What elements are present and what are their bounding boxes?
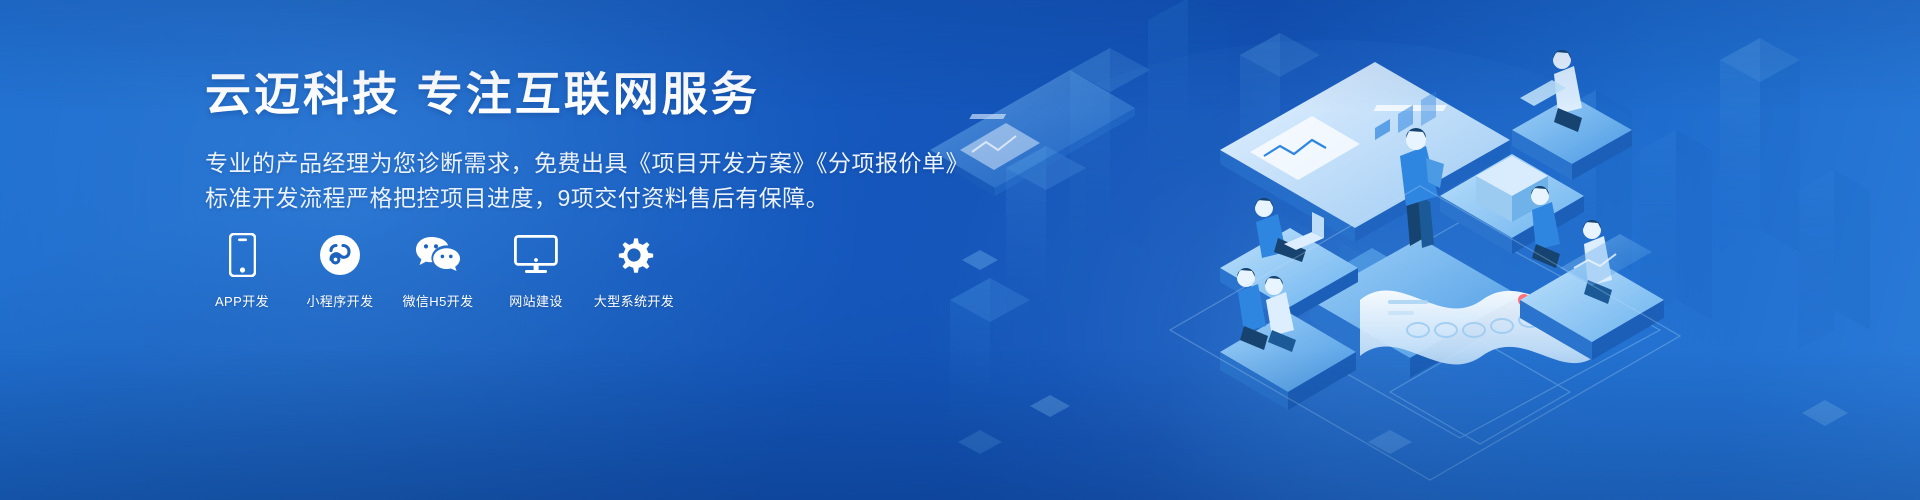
subtitle-line-2: 标准开发流程严格把控项目进度，9项交付资料售后有保障。 [205,181,965,217]
service-item-mini-program[interactable]: 小程序开发 [303,232,377,310]
background-glow-right [880,40,1780,500]
banner-subtitle: 专业的产品经理为您诊断需求，免费出具《项目开发方案》《分项报价单》 标准开发流程… [205,146,965,217]
gear-icon [613,232,655,278]
wechat-icon [415,232,461,278]
service-label-website: 网站建设 [509,291,563,310]
service-label-wechat-h5: 微信H5开发 [402,291,473,310]
banner-text-block: 云迈科技 专注互联网服务 专业的产品经理为您诊断需求，免费出具《项目开发方案》《… [205,66,965,217]
service-label-mini-program: 小程序开发 [306,291,373,310]
service-list: APP开发 小程序开发 [205,232,671,310]
service-label-app: APP开发 [215,291,269,310]
service-label-large-system: 大型系统开发 [594,291,674,310]
isometric-illustration [920,0,1920,500]
subtitle-line-1: 专业的产品经理为您诊断需求，免费出具《项目开发方案》《分项报价单》 [205,146,965,182]
service-item-large-system[interactable]: 大型系统开发 [597,232,671,310]
hero-banner: 云迈科技 专注互联网服务 专业的产品经理为您诊断需求，免费出具《项目开发方案》《… [0,0,1920,500]
mobile-phone-icon [229,232,256,278]
service-item-wechat-h5[interactable]: 微信H5开发 [401,232,475,310]
service-item-app[interactable]: APP开发 [205,232,279,310]
service-item-website[interactable]: 网站建设 [499,232,573,310]
monitor-icon [514,232,558,278]
mini-program-icon [319,232,361,278]
page-title: 云迈科技 专注互联网服务 [205,66,965,124]
